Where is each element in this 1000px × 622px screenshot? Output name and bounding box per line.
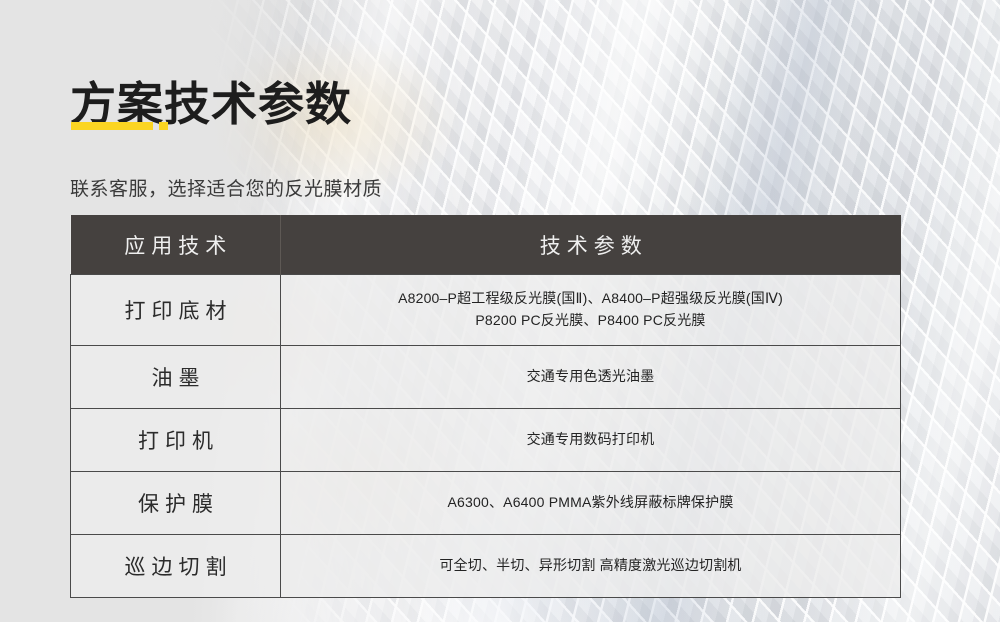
accent-bar — [71, 122, 153, 130]
cell-parameters: 交通专用色透光油墨 — [281, 346, 901, 409]
parameter-line: A6300、A6400 PMMA紫外线屏蔽标牌保护膜 — [295, 492, 886, 514]
parameter-line: 交通专用数码打印机 — [295, 429, 886, 451]
cell-parameters: 交通专用数码打印机 — [281, 409, 901, 472]
table-row: 油墨 交通专用色透光油墨 — [71, 346, 901, 409]
cell-application: 油墨 — [71, 346, 281, 409]
table-row: 打印机 交通专用数码打印机 — [71, 409, 901, 472]
cell-application: 打印机 — [71, 409, 281, 472]
cell-parameters: A8200–P超工程级反光膜(国Ⅱ)、A8400–P超强级反光膜(国Ⅳ) P82… — [281, 275, 901, 346]
spec-table-body: 打印底材 A8200–P超工程级反光膜(国Ⅱ)、A8400–P超强级反光膜(国Ⅳ… — [71, 275, 901, 598]
parameter-line: 交通专用色透光油墨 — [295, 366, 886, 388]
parameter-line: P8200 PC反光膜、P8400 PC反光膜 — [295, 310, 886, 332]
column-header-application: 应用技术 — [71, 215, 281, 275]
cell-parameters: A6300、A6400 PMMA紫外线屏蔽标牌保护膜 — [281, 472, 901, 535]
cell-application: 巡边切割 — [71, 535, 281, 598]
parameter-line: A8200–P超工程级反光膜(国Ⅱ)、A8400–P超强级反光膜(国Ⅳ) — [295, 288, 886, 310]
accent-square — [159, 122, 168, 130]
cell-application: 保护膜 — [71, 472, 281, 535]
cell-application: 打印底材 — [71, 275, 281, 346]
cell-parameters: 可全切、半切、异形切割 高精度激光巡边切割机 — [281, 535, 901, 598]
page-title: 方案技术参数 — [70, 81, 352, 127]
spec-table: 应用技术 技术参数 打印底材 A8200–P超工程级反光膜(国Ⅱ)、A8400–… — [70, 215, 901, 598]
table-row: 打印底材 A8200–P超工程级反光膜(国Ⅱ)、A8400–P超强级反光膜(国Ⅳ… — [71, 275, 901, 346]
column-header-parameters: 技术参数 — [281, 215, 901, 275]
page-subtitle: 联系客服，选择适合您的反光膜材质 — [70, 174, 382, 201]
table-header-row: 应用技术 技术参数 — [71, 215, 901, 275]
parameter-line: 可全切、半切、异形切割 高精度激光巡边切割机 — [295, 555, 886, 577]
page-root: 方案技术参数 联系客服，选择适合您的反光膜材质 应用技术 技术参数 打印底材 A… — [0, 0, 1000, 622]
table-row: 巡边切割 可全切、半切、异形切割 高精度激光巡边切割机 — [71, 535, 901, 598]
table-row: 保护膜 A6300、A6400 PMMA紫外线屏蔽标牌保护膜 — [71, 472, 901, 535]
spec-table-head: 应用技术 技术参数 — [71, 215, 901, 275]
title-accent-rule — [71, 122, 168, 130]
